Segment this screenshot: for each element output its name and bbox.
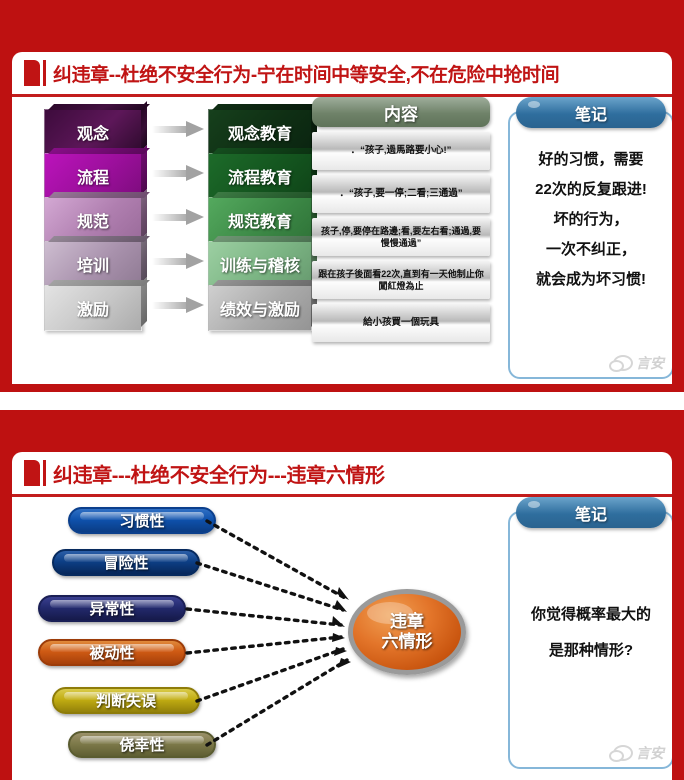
watermark-text: 言安 bbox=[636, 353, 664, 373]
slide-2-title-bar: 纠违章---杜绝不安全行为---违章六情形 bbox=[12, 452, 672, 497]
content-row[interactable]: ．“孩子,要一停;二看;三通過” bbox=[312, 175, 490, 213]
education-item-5[interactable]: 绩效与激励 bbox=[208, 285, 312, 331]
notes-panel-body: 好的习惯，需要 22次的反复跟进! 坏的行为， 一次不纠正， 就会成为坏习惯! bbox=[510, 113, 672, 303]
slide-1-body: 观念 流程 规范 培训 激励 观念教育 流程教育 规范教育 训练与稽核 绩效与激… bbox=[12, 97, 672, 384]
arrow-icon-3 bbox=[152, 209, 204, 225]
slide-2-body: 习惯性 冒险性 异常性 被动性 判断失误 侥幸性 违章 六情形 笔记 你觉得概率… bbox=[12, 497, 672, 780]
education-item-3-label: 规范教育 bbox=[228, 208, 292, 232]
content-row-text: 孩子,停,要停在路邊;看,要左右看;通過,要慢慢通過” bbox=[318, 225, 484, 249]
page-title: 纠违章---杜绝不安全行为---违章六情形 bbox=[53, 459, 385, 488]
slide-2: 纠违章---杜绝不安全行为---违章六情形 bbox=[0, 410, 684, 780]
arrow-icon-2 bbox=[152, 165, 204, 181]
pill-label: 侥幸性 bbox=[119, 734, 164, 755]
content-row-text: 給小孩買一個玩具 bbox=[363, 317, 439, 330]
notes-line: 坏的行为， bbox=[518, 205, 664, 235]
pill-label: 异常性 bbox=[89, 598, 134, 619]
arrow-icon-4 bbox=[152, 253, 204, 269]
page-title: 纠违章--杜绝不安全行为-宁在时间中等安全,不在危险中抢时间 bbox=[53, 60, 559, 87]
wechat-watermark: 言安 bbox=[613, 353, 664, 373]
pill-label: 习惯性 bbox=[119, 510, 164, 531]
notes-line: 22次的反复跟进! bbox=[518, 175, 664, 205]
stack-item-5-label: 激励 bbox=[77, 296, 109, 320]
pill-label: 被动性 bbox=[89, 642, 134, 663]
pill-label: 冒险性 bbox=[103, 552, 148, 573]
education-item-2-label: 流程教育 bbox=[228, 164, 292, 188]
notes-line: 好的习惯，需要 bbox=[518, 145, 664, 175]
hub-node[interactable]: 违章 六情形 bbox=[348, 589, 466, 675]
education-item-5-label: 绩效与激励 bbox=[220, 296, 300, 320]
content-row[interactable]: 跟在孩子後面看22次,直到有一天他制止你闖紅燈為止 bbox=[312, 261, 490, 299]
slide-2-canvas: 纠违章---杜绝不安全行为---违章六情形 bbox=[12, 452, 672, 780]
slide-1-canvas: 纠违章--杜绝不安全行为-宁在时间中等安全,不在危险中抢时间 观念 流程 规范 … bbox=[12, 52, 672, 384]
content-row-text: 跟在孩子後面看22次,直到有一天他制止你闖紅燈為止 bbox=[318, 268, 484, 292]
stack-item-4-label: 培训 bbox=[77, 252, 109, 276]
content-row-text: ．“孩子,過馬路要小心!” bbox=[351, 145, 452, 158]
hub-line-2: 六情形 bbox=[382, 632, 433, 652]
content-row[interactable]: ．“孩子,過馬路要小心!” bbox=[312, 132, 490, 170]
content-row[interactable]: 孩子,停,要停在路邊;看,要左右看;通過,要慢慢通過” bbox=[312, 218, 490, 256]
title-divider bbox=[43, 460, 46, 486]
content-column: 内容 ．“孩子,過馬路要小心!” ．“孩子,要一停;二看;三通過” 孩子,停,要… bbox=[312, 97, 490, 342]
connector-arrows bbox=[12, 497, 672, 780]
stack-item-5[interactable]: 激励 bbox=[44, 285, 142, 331]
notes-panel-header: 笔记 bbox=[516, 97, 666, 128]
title-divider bbox=[43, 60, 46, 86]
education-item-1-label: 观念教育 bbox=[228, 120, 292, 144]
notes-line: 就会成为坏习惯! bbox=[518, 265, 664, 295]
slide-1-title-bar: 纠违章--杜绝不安全行为-宁在时间中等安全,不在危险中抢时间 bbox=[12, 52, 672, 97]
document-icon bbox=[24, 60, 40, 86]
pill-label: 判断失误 bbox=[96, 690, 156, 711]
content-row[interactable]: 給小孩買一個玩具 bbox=[312, 304, 490, 342]
arrow-icon-1 bbox=[152, 121, 204, 137]
wechat-icon bbox=[613, 355, 633, 371]
concept-stack: 观念 流程 规范 培训 激励 bbox=[44, 109, 142, 329]
arrow-icon-5 bbox=[152, 297, 204, 313]
stack-item-2-label: 流程 bbox=[77, 164, 109, 188]
stack-item-1-label: 观念 bbox=[77, 120, 109, 144]
slide-1: 纠违章--杜绝不安全行为-宁在时间中等安全,不在危险中抢时间 观念 流程 规范 … bbox=[0, 0, 684, 392]
notes-line: 一次不纠正， bbox=[518, 235, 664, 265]
document-icon bbox=[24, 460, 40, 486]
hub-line-1: 违章 bbox=[390, 612, 424, 632]
education-stack: 观念教育 流程教育 规范教育 训练与稽核 绩效与激励 bbox=[208, 109, 312, 329]
education-item-4-label: 训练与稽核 bbox=[220, 252, 300, 276]
content-column-header: 内容 bbox=[312, 97, 490, 127]
stack-item-3-label: 规范 bbox=[77, 208, 109, 232]
content-row-text: ．“孩子,要一停;二看;三通過” bbox=[340, 188, 463, 201]
notes-panel: 笔记 好的习惯，需要 22次的反复跟进! 坏的行为， 一次不纠正， 就会成为坏习… bbox=[508, 111, 672, 379]
